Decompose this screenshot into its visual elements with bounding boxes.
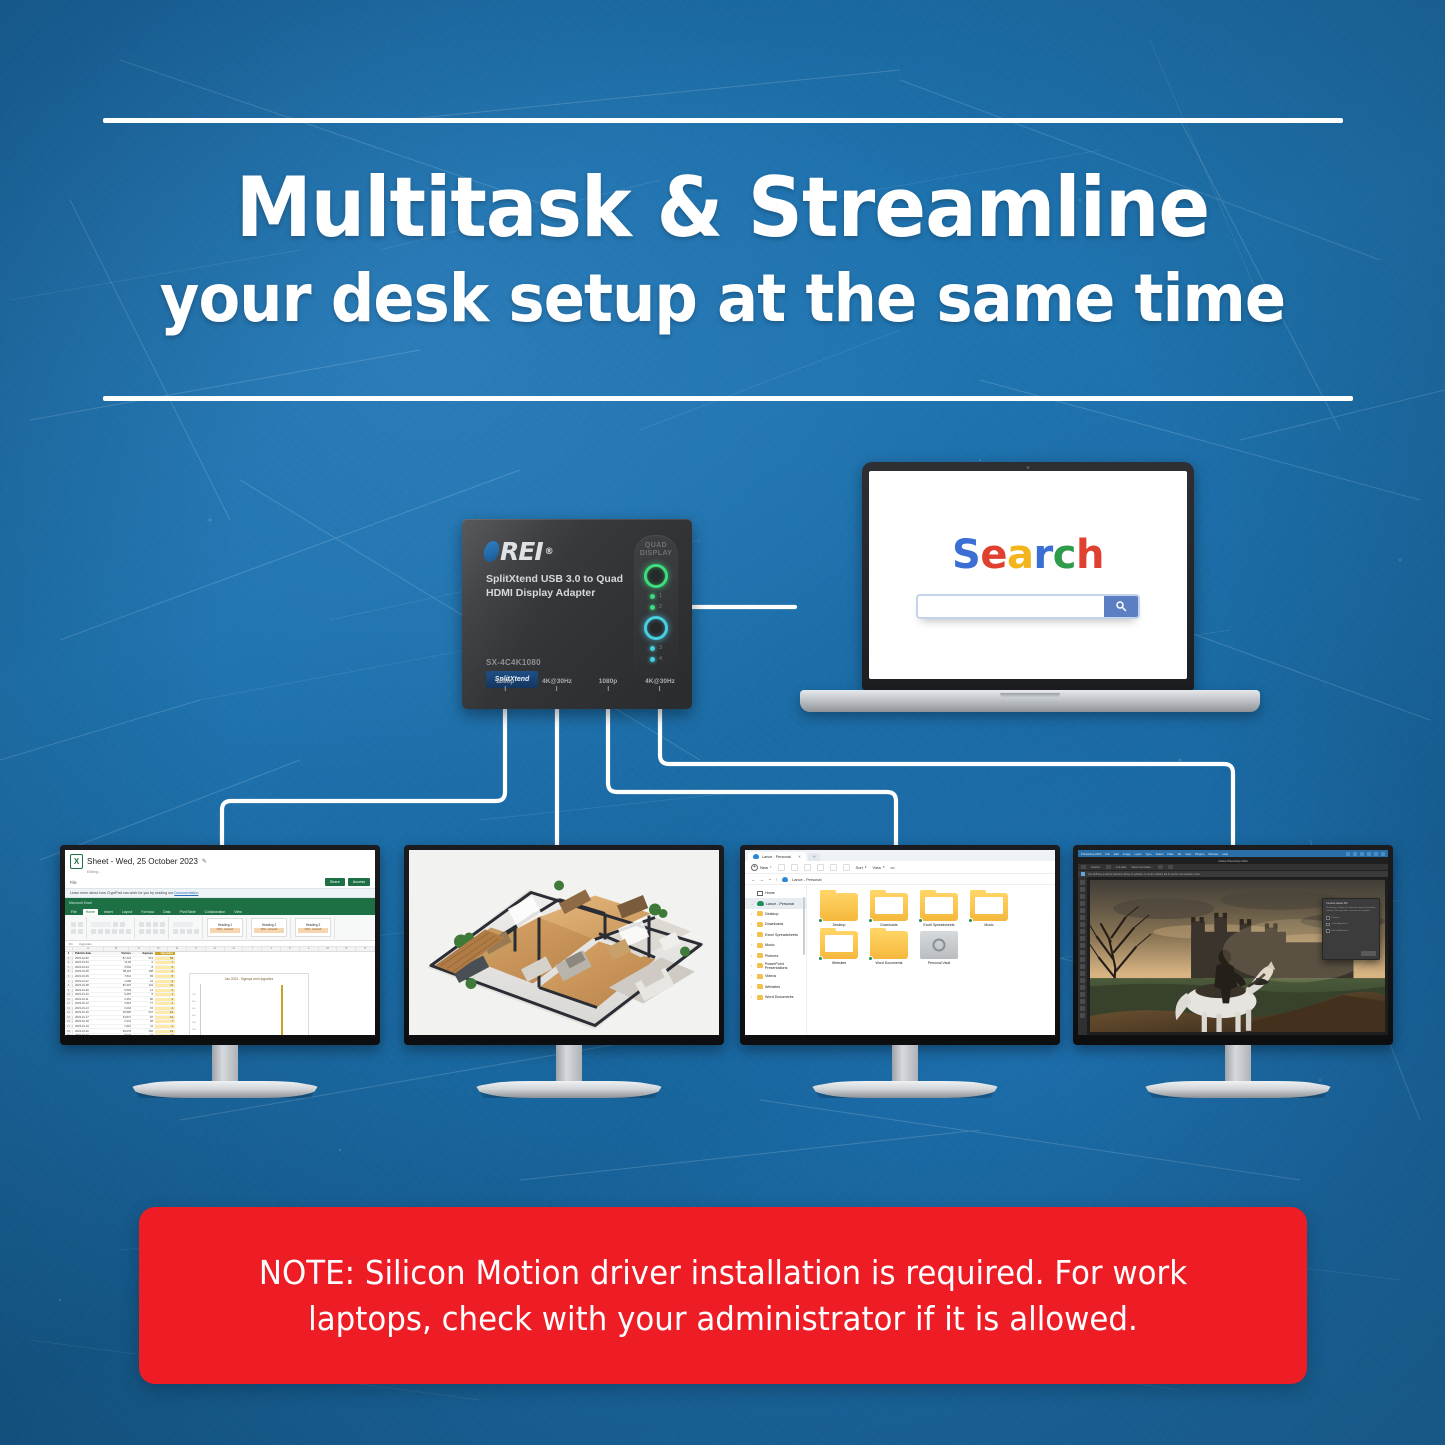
underline-icon[interactable] bbox=[105, 929, 110, 934]
table-cell[interactable]: 7 bbox=[155, 961, 175, 964]
chevron-icon[interactable]: › bbox=[751, 943, 755, 947]
table-cell[interactable]: 2023-01-17 bbox=[73, 1016, 107, 1019]
row-number[interactable]: 13 bbox=[65, 1007, 73, 1010]
magic-wand-tool-icon[interactable] bbox=[1080, 901, 1085, 906]
up-icon[interactable]: ↑ bbox=[776, 877, 778, 882]
align-right-icon[interactable] bbox=[153, 929, 158, 934]
chevron-icon[interactable]: › bbox=[751, 922, 755, 926]
table-cell[interactable]: 3,204 bbox=[107, 1007, 133, 1010]
table-cell[interactable]: Signups bbox=[133, 952, 155, 955]
style-heading-1[interactable]: Heading 1 20% - Accent1 bbox=[207, 918, 243, 937]
col-C[interactable]: C bbox=[129, 947, 150, 951]
col-D[interactable]: D bbox=[150, 947, 169, 951]
content-aware-fill-dialog[interactable]: Content-Aware Fill Photoshop is filling … bbox=[1322, 898, 1380, 960]
monitor-floorplan-screen[interactable] bbox=[409, 850, 719, 1035]
row-number[interactable]: 12 bbox=[65, 1002, 73, 1005]
row-number[interactable]: 9 bbox=[65, 989, 73, 992]
back-icon[interactable]: ← bbox=[751, 877, 756, 882]
sidebar-scrollbar[interactable] bbox=[803, 897, 805, 955]
tool-preset-icon[interactable] bbox=[1081, 865, 1086, 869]
menu-item-photoshop-2024[interactable]: Photoshop 2024 bbox=[1081, 852, 1101, 856]
table-cell[interactable]: 2023-01-03 bbox=[73, 961, 107, 964]
move-tool-icon[interactable] bbox=[1080, 880, 1085, 885]
eyedropper-tool-icon[interactable] bbox=[1080, 915, 1085, 920]
percent-icon[interactable] bbox=[180, 929, 185, 934]
personal-vault-icon bbox=[920, 931, 958, 959]
checkbox-icon[interactable] bbox=[1326, 929, 1330, 933]
excel-ribbon-tabs: File Home Insert Layout Formula Data Piv… bbox=[65, 907, 375, 915]
monitor-photoshop-screen[interactable]: Photoshop 2024FileEditImageLayerTypeSele… bbox=[1078, 850, 1388, 1035]
table-cell[interactable]: 19 bbox=[155, 1030, 175, 1033]
orei-splitxtend-adapter[interactable]: REI® SplitXtend USB 3.0 to Quad HDMI Dis… bbox=[462, 519, 692, 709]
col-B[interactable]: B bbox=[104, 947, 128, 951]
row-number[interactable]: 3 bbox=[65, 961, 73, 964]
font-name-select[interactable] bbox=[91, 922, 111, 927]
table-cell[interactable]: 9 bbox=[155, 970, 175, 973]
table-cell[interactable]: 11 bbox=[155, 984, 175, 987]
paste-icon[interactable] bbox=[71, 922, 76, 927]
row-number[interactable]: 2 bbox=[65, 957, 73, 960]
col-H[interactable]: H bbox=[225, 947, 244, 951]
monitor-floorplan-neck bbox=[556, 1045, 582, 1085]
folder-item[interactable]: Downloads bbox=[867, 893, 911, 928]
sidebar-item-powerpoint-presentations[interactable]: ›PowerPoint Presentations bbox=[745, 961, 806, 971]
table-cell[interactable]: 59 bbox=[155, 957, 175, 960]
feather-input[interactable] bbox=[1106, 865, 1111, 869]
col-G[interactable]: G bbox=[206, 947, 225, 951]
table-cell[interactable]: 2023-01-18 bbox=[73, 1020, 107, 1023]
col-A[interactable]: A bbox=[73, 947, 105, 951]
border-icon[interactable] bbox=[112, 929, 117, 934]
dialog-title: Content-Aware Fill bbox=[1326, 902, 1376, 905]
menu-item-window[interactable]: Window bbox=[1208, 852, 1218, 856]
decimal-icon[interactable] bbox=[194, 929, 199, 934]
table-cell[interactable]: 87,441 bbox=[107, 957, 133, 960]
photoshop-workspace: Content-Aware Fill Photoshop is filling … bbox=[1078, 877, 1388, 1035]
table-cell[interactable]: 4 bbox=[155, 989, 175, 992]
row-number[interactable]: 19 bbox=[65, 1034, 73, 1035]
font-grow-icon[interactable] bbox=[120, 922, 125, 927]
table-cell[interactable]: 2023-01-06 bbox=[73, 975, 107, 978]
table-cell[interactable]: 2023-01-23 bbox=[73, 1034, 107, 1035]
table-cell[interactable]: 83 bbox=[133, 975, 155, 978]
table-cell[interactable]: 2023-01-20 bbox=[73, 1030, 107, 1033]
table-cell[interactable]: 2 bbox=[155, 1007, 175, 1010]
path-select-tool-icon[interactable] bbox=[1080, 992, 1085, 997]
table-cell[interactable]: Visitors bbox=[107, 952, 133, 955]
cloud-sync-icon[interactable] bbox=[1346, 852, 1350, 856]
sidebar-item-music[interactable]: ›Music bbox=[745, 940, 806, 950]
table-cell[interactable]: 1 bbox=[155, 1025, 175, 1028]
sidebar-item-pictures[interactable]: ›Pictures bbox=[745, 950, 806, 960]
dialog-ok-button[interactable] bbox=[1361, 951, 1376, 956]
marquee-tool-icon[interactable] bbox=[1080, 887, 1085, 892]
led-dot-cyan-3 bbox=[650, 646, 655, 651]
row-number[interactable]: 10 bbox=[65, 993, 73, 996]
tab-view[interactable]: View bbox=[231, 909, 245, 915]
tab-home[interactable]: Home bbox=[83, 909, 98, 915]
col-L[interactable]: L bbox=[300, 947, 319, 951]
chevron-icon[interactable]: ⌄ bbox=[751, 902, 755, 906]
row-number[interactable]: 7 bbox=[65, 980, 73, 983]
explorer-sidebar[interactable]: Home⌄Lance - Personal›Desktop›Downloads›… bbox=[745, 885, 807, 1035]
search-icon[interactable] bbox=[1360, 852, 1364, 856]
table-cell[interactable]: 2023-01-16 bbox=[73, 1011, 107, 1014]
folder-name: Desktop bbox=[833, 923, 846, 928]
sidebar-item-desktop[interactable]: ›Desktop bbox=[745, 909, 806, 919]
menu-item-3d[interactable]: 3D bbox=[1178, 852, 1182, 856]
photoshop-menubar[interactable]: Photoshop 2024FileEditImageLayerTypeSele… bbox=[1078, 850, 1388, 857]
photoshop-toolbar[interactable] bbox=[1078, 877, 1087, 1035]
row-number[interactable]: 11 bbox=[65, 998, 73, 1001]
table-cell[interactable]: 14 bbox=[133, 989, 155, 992]
row-number[interactable]: 18 bbox=[65, 1030, 73, 1033]
table-cell[interactable]: 15 bbox=[133, 1007, 155, 1010]
excel-embedded-chart[interactable]: Jan 2023 - Signups and Upgrades 70060050… bbox=[189, 973, 309, 1035]
ribbon-group-clipboard bbox=[68, 917, 87, 939]
folder-icon bbox=[757, 943, 763, 948]
close-icon[interactable] bbox=[1381, 852, 1385, 856]
row-number[interactable]: 15 bbox=[65, 1016, 73, 1019]
table-cell[interactable]: 80,315 bbox=[107, 984, 133, 987]
table-cell[interactable]: 156 bbox=[133, 1030, 155, 1033]
edit-pencil-icon[interactable]: ✎ bbox=[202, 858, 207, 865]
sidebar-item-excel-spreadsheets[interactable]: ›Excel Spreadsheets bbox=[745, 930, 806, 940]
port-label-1: 1080p bbox=[496, 678, 514, 691]
explorer-file-area[interactable]: DesktopDownloadsExcel SpreadsheetsMusicW… bbox=[807, 885, 1055, 1035]
table-cell[interactable]: 2023-01-02 bbox=[73, 957, 107, 960]
row-number[interactable]: 8 bbox=[65, 984, 73, 987]
number-format-select[interactable] bbox=[173, 922, 193, 927]
table-cell[interactable]: 2023-01-08 bbox=[73, 984, 107, 987]
table-cell[interactable]: 43,871 bbox=[107, 1016, 133, 1019]
chevron-icon[interactable]: › bbox=[751, 912, 755, 916]
sidebar-item-lance-personal[interactable]: ⌄Lance - Personal bbox=[745, 898, 806, 908]
access-button[interactable]: Access bbox=[348, 878, 370, 886]
col-J[interactable]: J bbox=[262, 947, 281, 951]
refine-icon[interactable] bbox=[1158, 865, 1163, 869]
menu-item-image[interactable]: Image bbox=[1123, 852, 1131, 856]
sidebar-item-videos[interactable]: ›Videos bbox=[745, 971, 806, 981]
row-number[interactable]: 16 bbox=[65, 1020, 73, 1023]
history-icon[interactable]: ⌄ bbox=[768, 876, 772, 882]
pen-tool-icon[interactable] bbox=[1080, 978, 1085, 983]
chevron-icon[interactable]: › bbox=[751, 933, 755, 937]
blur-tool-icon[interactable] bbox=[1080, 964, 1085, 969]
search-input[interactable] bbox=[918, 596, 1104, 617]
port-label-2: 4K@30Hz bbox=[542, 678, 572, 691]
dialog-checkbox-1-label: Preview bbox=[1332, 917, 1340, 920]
table-cell[interactable]: 2023-01-04 bbox=[73, 966, 107, 969]
workspace-icon[interactable] bbox=[1353, 852, 1357, 856]
explorer-tab-title: Lance - Personal bbox=[762, 855, 791, 859]
explorer-tab-active[interactable]: Lance - Personal ✕ bbox=[748, 852, 806, 861]
menu-item-view[interactable]: View bbox=[1185, 852, 1191, 856]
menu-item-plugins[interactable]: Plugins bbox=[1195, 852, 1204, 856]
menu-item-filter[interactable]: Filter bbox=[1167, 852, 1173, 856]
table-cell[interactable]: 24 bbox=[133, 980, 155, 983]
table-cell[interactable]: 2023-01-09 bbox=[73, 989, 107, 992]
fill-color-icon[interactable] bbox=[119, 929, 124, 934]
format-painter-icon[interactable] bbox=[78, 929, 83, 934]
row-number[interactable]: 1 bbox=[65, 952, 73, 955]
menu-item-type[interactable]: Type bbox=[1146, 852, 1152, 856]
table-cell[interactable]: 88,110 bbox=[107, 970, 133, 973]
search-submit-button[interactable] bbox=[1104, 596, 1138, 617]
chevron-icon[interactable]: › bbox=[751, 995, 755, 999]
tab-file[interactable]: File bbox=[68, 909, 80, 915]
bold-icon[interactable] bbox=[91, 929, 96, 934]
table-cell[interactable]: Upgrades bbox=[155, 952, 175, 955]
folder-item[interactable]: Word Documents bbox=[867, 931, 911, 966]
table-cell[interactable]: 2023-01-11 bbox=[73, 998, 107, 1001]
sort-button[interactable]: Sort ▾ bbox=[856, 865, 867, 870]
table-cell[interactable]: 1,910 bbox=[107, 1025, 133, 1028]
dodge-tool-icon[interactable] bbox=[1080, 971, 1085, 976]
copy-icon[interactable] bbox=[71, 929, 76, 934]
sidebar-item-label: Websites bbox=[765, 985, 780, 989]
table-cell[interactable]: 2,441 bbox=[107, 1020, 133, 1023]
folder-item[interactable]: Music bbox=[967, 893, 1011, 928]
led-dot-green-1 bbox=[650, 594, 655, 599]
brush-tool-icon[interactable] bbox=[1080, 929, 1085, 934]
style-heading-3[interactable]: Heading 3 20% - Accent3 bbox=[295, 918, 331, 937]
monitor-explorer-screen[interactable]: Lance - Personal ✕ ＋ + New ▾ bbox=[745, 850, 1055, 1035]
new-button[interactable]: + New ▾ bbox=[751, 864, 772, 871]
table-cell[interactable]: 39,076 bbox=[107, 1030, 133, 1033]
table-cell[interactable]: 44 bbox=[133, 1034, 155, 1035]
table-row[interactable]: 192023-01-235,046446 bbox=[65, 1034, 175, 1035]
folder-item[interactable]: Personal Vault bbox=[917, 931, 961, 966]
table-cell[interactable]: 10 bbox=[155, 1011, 175, 1014]
lasso-tool-icon[interactable] bbox=[1080, 894, 1085, 899]
table-cell[interactable]: 2023-01-13 bbox=[73, 1007, 107, 1010]
zoom-tool-icon[interactable] bbox=[1080, 1013, 1085, 1018]
table-cell[interactable]: 6 bbox=[155, 1034, 175, 1035]
style-icon[interactable] bbox=[1168, 865, 1173, 869]
formula-value: Upgrades bbox=[79, 942, 92, 946]
excel-file-menu[interactable]: File bbox=[70, 880, 77, 885]
table-cell[interactable]: 12,30 bbox=[107, 961, 133, 964]
table-cell[interactable]: Publish date bbox=[73, 952, 107, 955]
table-cell[interactable]: 2023-01-10 bbox=[73, 993, 107, 996]
col-F[interactable]: F bbox=[187, 947, 206, 951]
table-cell[interactable]: 2023-01-05 bbox=[73, 970, 107, 973]
checkbox-icon[interactable] bbox=[1326, 916, 1330, 920]
table-cell[interactable]: 134 bbox=[133, 984, 155, 987]
menubar-right-icons bbox=[1346, 852, 1385, 856]
share-icon[interactable] bbox=[830, 864, 837, 871]
sidebar-item-home[interactable]: Home bbox=[745, 888, 806, 898]
row-number[interactable]: 17 bbox=[65, 1025, 73, 1028]
paste-icon[interactable] bbox=[804, 864, 811, 871]
wrap-text-icon[interactable] bbox=[160, 922, 165, 927]
led-ring-green bbox=[644, 564, 668, 588]
tab-collaboration[interactable]: Collaboration bbox=[202, 909, 229, 915]
maximize-icon[interactable] bbox=[1374, 852, 1378, 856]
menu-item-select[interactable]: Select bbox=[1156, 852, 1164, 856]
sidebar-item-label: Home bbox=[765, 891, 775, 895]
cut-icon[interactable] bbox=[778, 864, 785, 871]
row-number[interactable]: 14 bbox=[65, 1011, 73, 1014]
table-cell[interactable]: 2023-01-07 bbox=[73, 980, 107, 983]
menu-item-file[interactable]: File bbox=[1105, 852, 1110, 856]
dialog-checkbox-2[interactable]: Color Adaptation bbox=[1326, 923, 1376, 927]
table-cell[interactable]: 2 bbox=[155, 966, 175, 969]
crop-tool-icon[interactable] bbox=[1080, 908, 1085, 913]
table-cell[interactable]: 18,996 bbox=[107, 1011, 133, 1014]
currency-icon[interactable] bbox=[173, 929, 178, 934]
font-size-select[interactable] bbox=[113, 922, 118, 927]
table-cell[interactable]: 7,841 bbox=[107, 975, 133, 978]
ribbon-group-number bbox=[170, 917, 203, 939]
tab-insert[interactable]: Insert bbox=[101, 909, 116, 915]
documentation-link[interactable]: Documentation bbox=[174, 891, 198, 895]
excel-app-name: Microsoft Excel bbox=[69, 901, 92, 905]
gradient-tool-icon[interactable] bbox=[1080, 957, 1085, 962]
sidebar-item-word-documents[interactable]: ›Word Documents bbox=[745, 992, 806, 1002]
shape-tool-icon[interactable] bbox=[1080, 999, 1085, 1004]
table-cell[interactable]: 11 bbox=[133, 1025, 155, 1028]
tab-pivottable[interactable]: PivotTable bbox=[177, 909, 199, 915]
table-cell[interactable]: 4,516 bbox=[107, 1002, 133, 1005]
menu-item-help[interactable]: Help bbox=[1222, 852, 1228, 856]
monitor-explorer: Lance - Personal ✕ ＋ + New ▾ bbox=[740, 845, 1070, 1110]
copy-icon[interactable] bbox=[791, 864, 798, 871]
cut-icon[interactable] bbox=[78, 922, 83, 927]
table-cell[interactable]: 77 bbox=[133, 1002, 155, 1005]
hand-tool-icon[interactable] bbox=[1080, 1006, 1085, 1011]
new-tab-button[interactable]: ＋ bbox=[808, 853, 820, 861]
rename-icon[interactable] bbox=[817, 864, 824, 871]
table-cell[interactable]: 6 bbox=[133, 961, 155, 964]
align-top-icon[interactable] bbox=[139, 922, 144, 927]
folder-item[interactable]: Excel Spreadsheets bbox=[917, 893, 961, 928]
table-cell[interactable]: 613 bbox=[133, 957, 155, 960]
close-tab-icon[interactable]: ✕ bbox=[798, 854, 801, 859]
folder-icon bbox=[820, 931, 858, 959]
col-O[interactable]: O bbox=[356, 947, 375, 951]
floorplan-svg bbox=[409, 850, 719, 1035]
comma-icon[interactable] bbox=[187, 929, 192, 934]
table-cell[interactable]: 1 bbox=[155, 993, 175, 996]
row-number[interactable]: 4 bbox=[65, 966, 73, 969]
dialog-checkbox-3[interactable]: Mirror Adaptation bbox=[1326, 929, 1376, 933]
table-cell[interactable]: 28 bbox=[133, 1020, 155, 1023]
menu-item-layer[interactable]: Layer bbox=[1135, 852, 1142, 856]
table-cell[interactable]: 8 bbox=[133, 966, 155, 969]
chevron-icon[interactable]: › bbox=[751, 985, 755, 989]
chart-y-tick: 400 bbox=[192, 1013, 196, 1020]
menu-item-edit[interactable]: Edit bbox=[1114, 852, 1119, 856]
overflow-menu-icon[interactable]: ••• bbox=[891, 865, 895, 870]
merge-cells-icon[interactable] bbox=[160, 929, 165, 934]
table-cell[interactable]: 87 bbox=[133, 1016, 155, 1019]
excel-data-table[interactable]: 1Publish dateVisitorsSignupsUpgrades2202… bbox=[65, 952, 175, 1035]
breadcrumb[interactable]: ← → ⌄ ↑ Lance - Personal bbox=[745, 874, 1055, 885]
monitor-spreadsheet-screen[interactable]: X Sheet - Wed, 25 October 2023 ✎ Editing… bbox=[65, 850, 375, 1035]
laptop: Search bbox=[800, 462, 1260, 712]
folder-item[interactable]: Websites bbox=[817, 931, 861, 966]
table-cell[interactable]: 13 bbox=[155, 1016, 175, 1019]
tab-formula[interactable]: Formula bbox=[138, 909, 157, 915]
table-cell[interactable]: 5 bbox=[155, 975, 175, 978]
col-K[interactable]: K bbox=[281, 947, 300, 951]
tab-layout[interactable]: Layout bbox=[119, 909, 136, 915]
font-color-icon[interactable] bbox=[126, 929, 131, 934]
tab-data[interactable]: Data bbox=[160, 909, 173, 915]
italic-icon[interactable] bbox=[98, 929, 103, 934]
table-cell[interactable]: 247 bbox=[133, 1011, 155, 1014]
align-center-icon[interactable] bbox=[146, 929, 151, 934]
table-cell[interactable]: 2023-01-12 bbox=[73, 1002, 107, 1005]
clone-stamp-tool-icon[interactable] bbox=[1080, 936, 1085, 941]
table-cell[interactable]: 5,046 bbox=[107, 1034, 133, 1035]
folder-icon bbox=[870, 931, 908, 959]
col-I[interactable]: I bbox=[243, 947, 262, 951]
table-cell[interactable]: 3,504 bbox=[107, 966, 133, 969]
table-cell[interactable]: 1 bbox=[155, 1002, 175, 1005]
select-and-mask-button[interactable]: Select and Mask... bbox=[1131, 866, 1152, 869]
table-cell[interactable]: 2023-01-19 bbox=[73, 1025, 107, 1028]
excel-grid[interactable]: A B C D E F G H I J K L M bbox=[65, 947, 375, 1035]
table-cell[interactable]: 3 bbox=[155, 980, 175, 983]
chevron-icon[interactable]: › bbox=[751, 964, 755, 968]
col-E[interactable]: E bbox=[168, 947, 187, 951]
chevron-icon[interactable]: › bbox=[751, 954, 755, 958]
chevron-icon[interactable]: › bbox=[751, 974, 755, 978]
table-cell[interactable]: 3 bbox=[155, 998, 175, 1001]
col-M[interactable]: M bbox=[319, 947, 338, 951]
healing-tool-icon[interactable] bbox=[1080, 922, 1085, 927]
search-bar[interactable] bbox=[916, 594, 1140, 619]
col-N[interactable]: N bbox=[337, 947, 356, 951]
table-cell[interactable]: 4,351 bbox=[107, 998, 133, 1001]
folder-item[interactable]: Desktop bbox=[817, 893, 861, 928]
table-cell[interactable]: 5,287 bbox=[107, 993, 133, 996]
row-number[interactable]: 6 bbox=[65, 975, 73, 978]
minimize-icon[interactable] bbox=[1367, 852, 1371, 856]
align-left-icon[interactable] bbox=[139, 929, 144, 934]
sidebar-item-websites[interactable]: ›Websites bbox=[745, 982, 806, 992]
table-cell[interactable]: 7 bbox=[155, 1020, 175, 1023]
type-tool-icon[interactable] bbox=[1080, 985, 1085, 990]
table-cell[interactable]: 8 bbox=[133, 993, 155, 996]
folder-icon bbox=[757, 984, 763, 989]
style-heading-2[interactable]: Heading 2 20% - Accent2 bbox=[251, 918, 287, 937]
row-number[interactable]: 5 bbox=[65, 970, 73, 973]
align-bottom-icon[interactable] bbox=[153, 922, 158, 927]
sidebar-item-downloads[interactable]: ›Downloads bbox=[745, 919, 806, 929]
table-cell[interactable]: 1,098 bbox=[107, 980, 133, 983]
dialog-checkbox-1[interactable]: Preview bbox=[1326, 916, 1376, 920]
table-cell[interactable]: 80 bbox=[133, 998, 155, 1001]
view-button[interactable]: View ▾ bbox=[872, 865, 884, 870]
delete-icon[interactable] bbox=[843, 864, 850, 871]
forward-icon[interactable]: → bbox=[760, 877, 765, 882]
checkbox-icon[interactable] bbox=[1326, 923, 1330, 927]
floorplan-render bbox=[409, 850, 719, 1035]
align-middle-icon[interactable] bbox=[146, 922, 151, 927]
eraser-tool-icon[interactable] bbox=[1080, 950, 1085, 955]
share-button[interactable]: Share bbox=[325, 878, 345, 886]
table-cell[interactable]: 198 bbox=[133, 970, 155, 973]
photoshop-canvas[interactable]: Content-Aware Fill Photoshop is filling … bbox=[1090, 880, 1385, 1032]
port-label-3: 1080p bbox=[599, 678, 617, 691]
folder-icon bbox=[757, 922, 763, 927]
history-brush-tool-icon[interactable] bbox=[1080, 943, 1085, 948]
table-cell[interactable]: 9,539 bbox=[107, 989, 133, 992]
